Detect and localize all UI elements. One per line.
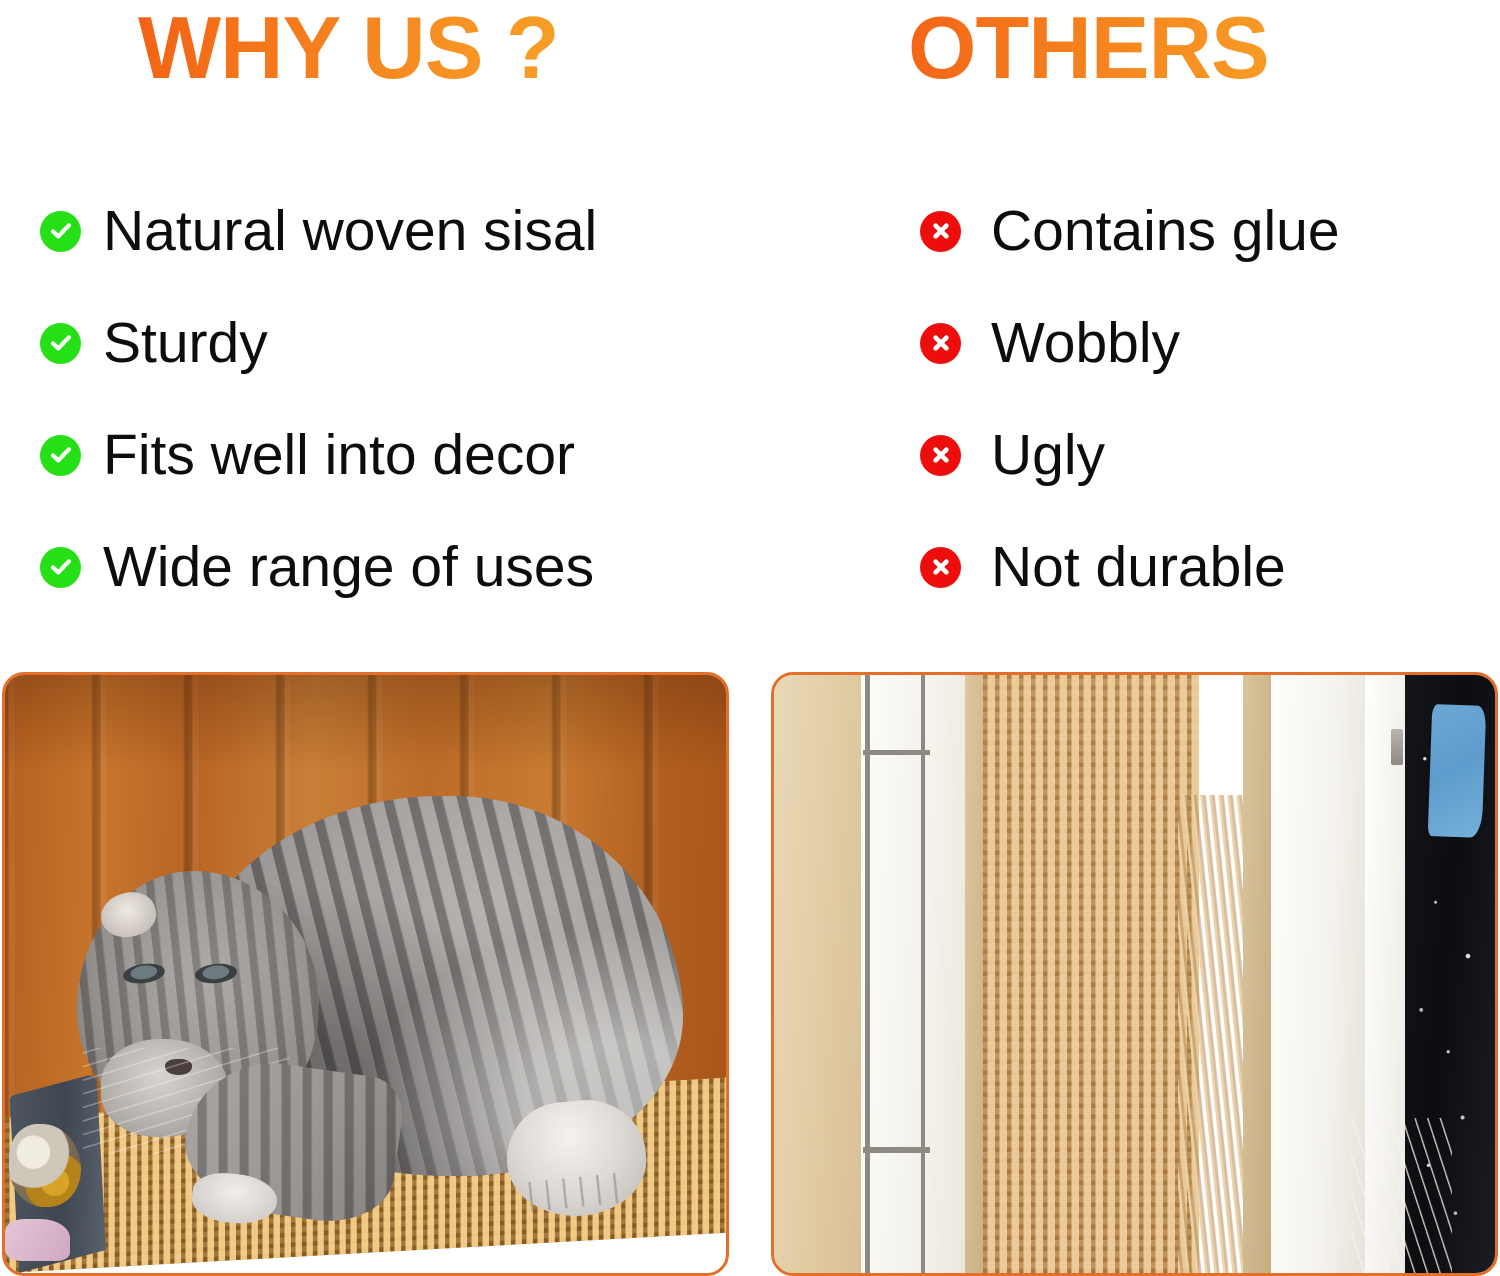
list-item-label: Wobbly	[991, 312, 1180, 374]
sisal-weave	[983, 675, 1199, 1273]
others-heading: OTHERS	[760, 0, 1500, 96]
others-product-photo	[771, 672, 1498, 1276]
check-circle-icon	[40, 211, 81, 252]
why-us-column: WHY US ?	[0, 0, 760, 96]
list-item: Natural woven sisal	[40, 175, 740, 287]
others-column: OTHERS	[760, 0, 1500, 96]
cross-circle-icon	[920, 323, 961, 364]
pink-fabric	[5, 1219, 70, 1261]
white-frame-panel	[861, 675, 926, 1273]
frame-divider	[865, 675, 870, 1273]
others-feature-list: Contains glue Wobbly Ugly	[920, 175, 1480, 623]
list-item: Contains glue	[920, 175, 1480, 287]
list-item-label: Sturdy	[103, 312, 268, 374]
check-circle-icon	[40, 323, 81, 364]
frayed-sisal-on-door-image	[774, 675, 1495, 1273]
list-item-label: Natural woven sisal	[103, 200, 597, 262]
list-item: Fits well into decor	[40, 399, 740, 511]
list-item-label: Not durable	[991, 536, 1286, 598]
list-item: Not durable	[920, 511, 1480, 623]
list-item-label: Wide range of uses	[103, 536, 594, 598]
cat-on-sisal-mat-image	[5, 675, 726, 1273]
list-item-label: Fits well into decor	[103, 424, 575, 486]
list-item: Wobbly	[920, 287, 1480, 399]
check-circle-icon	[40, 547, 81, 588]
cross-circle-icon	[920, 547, 961, 588]
door-hinge	[1391, 729, 1403, 765]
cross-circle-icon	[920, 435, 961, 476]
why-us-heading: WHY US ?	[0, 0, 760, 96]
loose-fibers	[1351, 1118, 1452, 1273]
wood-trim	[965, 675, 984, 1273]
list-item-label: Ugly	[991, 424, 1105, 486]
blue-tape	[1428, 704, 1487, 837]
wood-panel	[774, 675, 861, 1273]
list-item-label: Contains glue	[991, 200, 1340, 262]
why-us-feature-list: Natural woven sisal Sturdy Fits well int…	[40, 175, 740, 623]
frame-divider	[863, 750, 929, 755]
list-item: Sturdy	[40, 287, 740, 399]
comparison-infographic: WHY US ? Natural woven sisal Sturdy	[0, 0, 1500, 1274]
why-us-product-photo	[2, 672, 729, 1276]
list-item: Wide range of uses	[40, 511, 740, 623]
white-frame-panel	[925, 675, 968, 1273]
cross-circle-icon	[920, 211, 961, 252]
frame-divider	[863, 1147, 929, 1152]
frame-divider	[921, 675, 925, 1273]
wood-trim	[1243, 675, 1272, 1273]
check-circle-icon	[40, 435, 81, 476]
list-item: Ugly	[920, 399, 1480, 511]
wall-shadow	[5, 675, 726, 771]
gray-cat	[77, 783, 683, 1226]
